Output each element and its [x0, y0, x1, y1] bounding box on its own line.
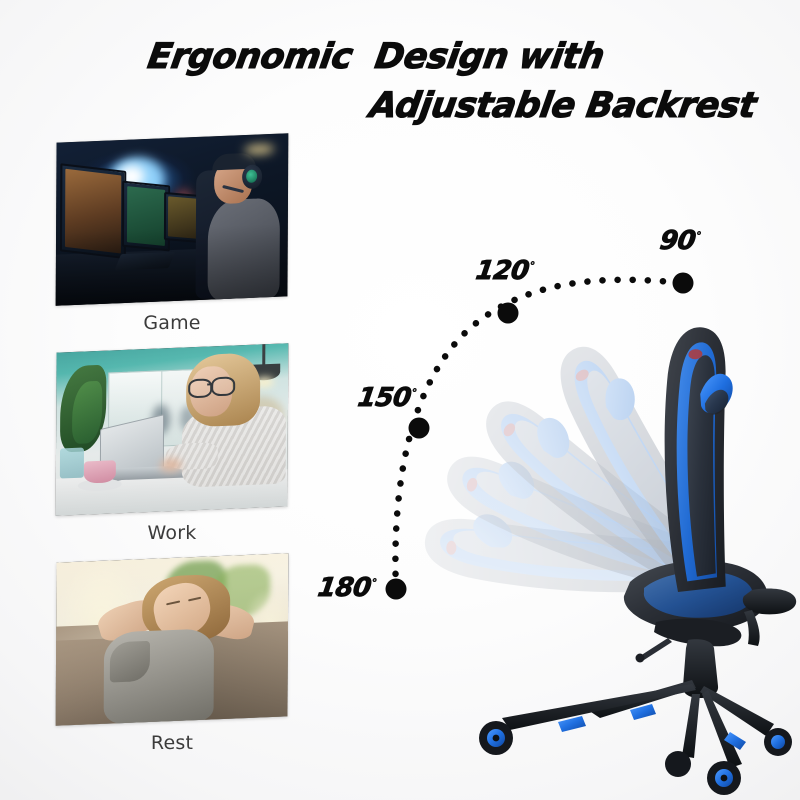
usage-scenario-list: Game	[0, 0, 320, 800]
angle-label-90: 90°	[658, 226, 702, 256]
list-item: Work	[0, 348, 320, 544]
angle-label-150: 150°	[356, 383, 418, 413]
photo-vignette	[56, 553, 289, 725]
title-line-2: Adjustable Backrest	[367, 89, 800, 124]
product-feature-image: Ergonomic Design with Adjustable Backres…	[0, 0, 800, 800]
list-item: Game	[0, 138, 320, 334]
photo-vignette	[56, 133, 289, 305]
scenario-label-rest: Rest	[56, 732, 288, 754]
list-item: Rest	[0, 558, 320, 754]
recline-angle-diagram: 90° 120° 150° 180°	[300, 190, 800, 800]
angle-value-120: 120	[474, 256, 531, 286]
angle-label-120: 120°	[474, 256, 536, 286]
photo-vignette	[56, 343, 289, 515]
scenario-photo-rest	[56, 553, 289, 725]
angle-label-180: 180°	[316, 573, 378, 603]
scenario-photo-work	[56, 343, 289, 515]
scenario-photo-game	[56, 133, 289, 305]
angle-value-90: 90	[658, 226, 697, 256]
angle-dot-90	[673, 273, 694, 294]
angle-dot-120	[498, 303, 519, 324]
scenario-label-game: Game	[56, 312, 288, 334]
scenario-label-work: Work	[56, 522, 288, 544]
angle-dot-180	[386, 579, 407, 600]
angle-value-180: 180	[316, 573, 373, 603]
angle-dot-150	[409, 418, 430, 439]
angle-value-150: 150	[356, 383, 413, 413]
recline-arc	[300, 190, 800, 800]
dotted-arc-path	[395, 280, 683, 589]
